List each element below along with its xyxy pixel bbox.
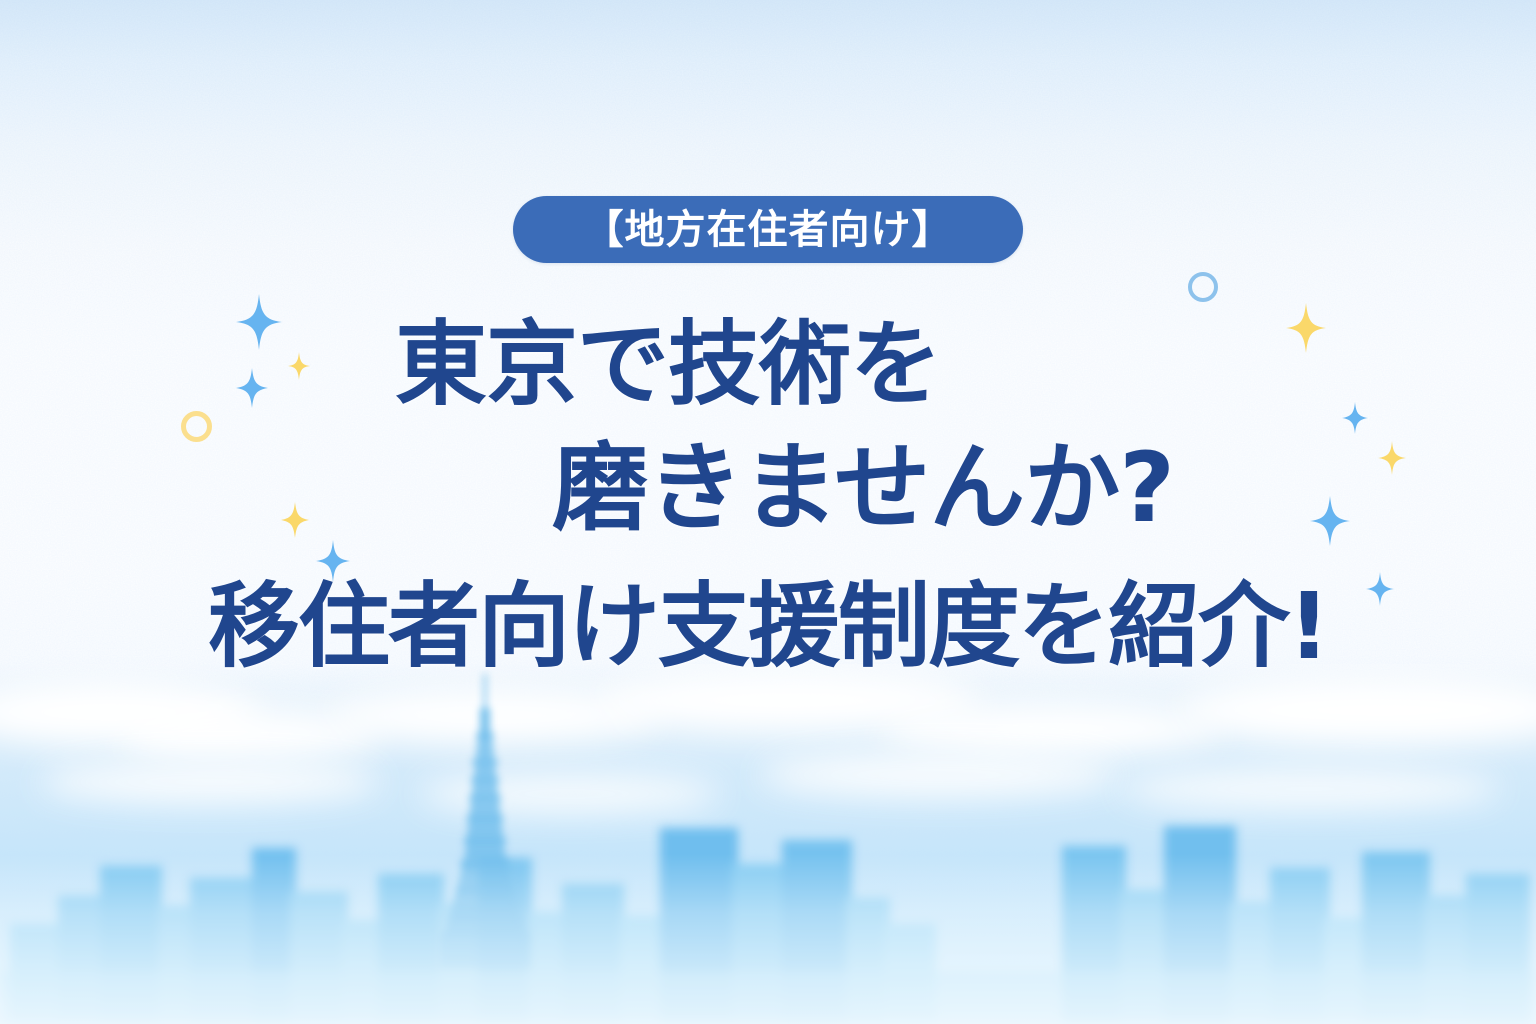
- headline-block: 東京で技術を 磨きませんか? 移住者向け支援制度を紹介!: [0, 318, 1536, 674]
- badge-label: 【地方在住者向け】: [584, 210, 953, 250]
- headline-line-2: 磨きませんか?: [0, 440, 1536, 538]
- atmospheric-haze: [0, 854, 1536, 1024]
- cityscape-background: [0, 664, 1536, 1024]
- headline-line-3: 移住者向け支援制度を紹介!: [0, 580, 1536, 674]
- promo-banner: 【地方在住者向け】 東京で技術を 磨きませんか? 移住者向け支援制度を紹介!: [0, 0, 1536, 1024]
- target-audience-badge[interactable]: 【地方在住者向け】: [513, 196, 1023, 263]
- headline-line-1: 東京で技術を: [0, 318, 1536, 412]
